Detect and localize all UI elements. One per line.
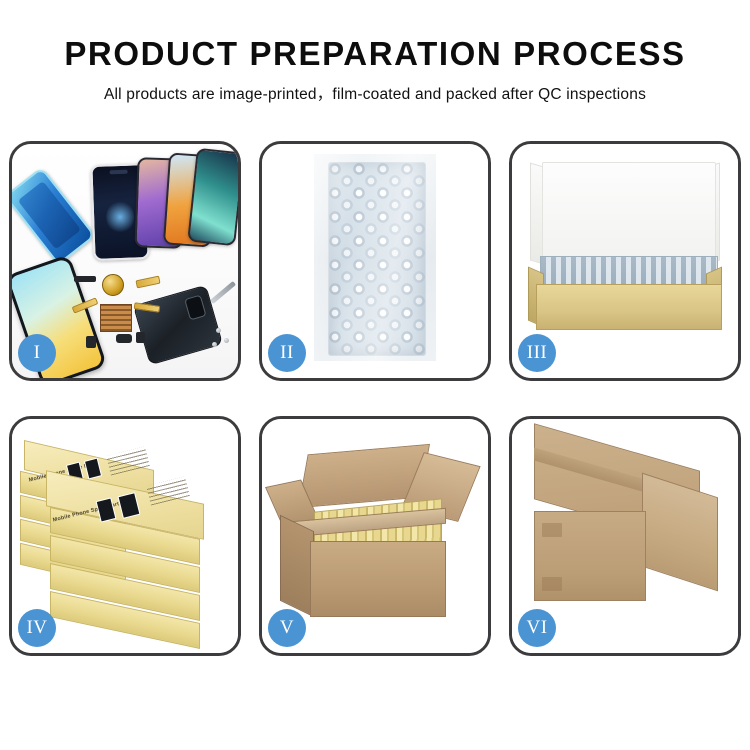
screw-icon: [224, 338, 229, 343]
step-badge-2: II: [268, 334, 306, 372]
page-subtitle: All products are image-printed，film-coat…: [0, 85, 750, 105]
step-badge-4: IV: [18, 609, 56, 647]
box-front-panel-icon: [536, 284, 722, 330]
step-panel-4[interactable]: Mobile Phone Spare Parts Mobile Phone Sp…: [9, 416, 241, 656]
chip-icon: [116, 334, 132, 343]
tweezers-icon: [210, 281, 236, 304]
process-steps-grid: I II III: [9, 141, 741, 656]
phone-screen-teal-icon: [187, 148, 238, 247]
carton-side-right-icon: [642, 473, 718, 592]
page-header: PRODUCT PREPARATION PROCESS All products…: [0, 0, 750, 105]
vibration-coil-icon: [102, 274, 124, 296]
screw-icon: [212, 342, 217, 347]
step-panel-1[interactable]: I: [9, 141, 241, 381]
chip-icon: [74, 276, 96, 282]
carton-handle-slot-icon: [542, 523, 562, 537]
step-panel-5[interactable]: V: [259, 416, 491, 656]
step-panel-6[interactable]: VI: [509, 416, 741, 656]
step-badge-6: VI: [518, 609, 556, 647]
chip-icon: [86, 336, 96, 348]
step-badge-1: I: [18, 334, 56, 372]
box-lid-icon: [542, 162, 716, 262]
step-panel-3[interactable]: III: [509, 141, 741, 381]
carton-side-icon: [280, 515, 314, 618]
step-badge-3: III: [518, 334, 556, 372]
step-badge-5: V: [268, 609, 306, 647]
flex-cable-icon: [135, 276, 160, 289]
chip-icon: [136, 332, 145, 343]
film-gloss-icon: [314, 154, 436, 361]
carton-highlight-icon: [674, 436, 723, 465]
carton-handle-slot-icon: [542, 577, 562, 591]
carton-front-icon: [310, 541, 446, 617]
step-panel-2[interactable]: II: [259, 141, 491, 381]
phone-back-housing-icon: [133, 285, 223, 366]
lcd-assembly-blue-icon: [12, 167, 96, 266]
screw-icon: [216, 328, 221, 333]
copper-shield-pad-icon: [100, 304, 132, 332]
page-title: PRODUCT PREPARATION PROCESS: [0, 34, 750, 74]
